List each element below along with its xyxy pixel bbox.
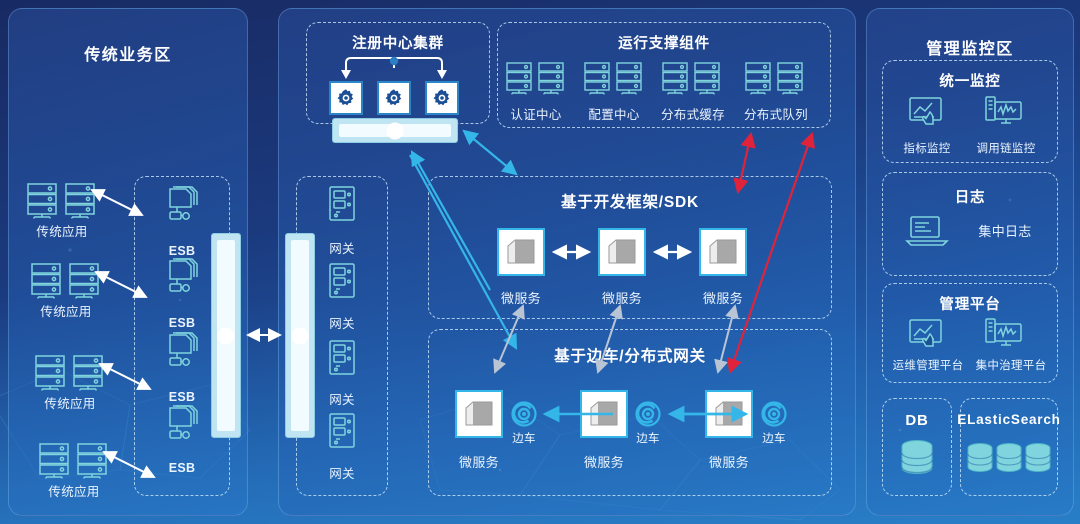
legacy-app-label-3: 传统应用 — [24, 481, 124, 500]
registry-node-2[interactable] — [425, 81, 459, 115]
sidecar-service-label-2: 微服务 — [693, 452, 765, 471]
runtime-item-label-1: 配置中心 — [576, 104, 652, 123]
legacy-app-0 — [26, 183, 98, 219]
sidecar-badge-1[interactable] — [634, 400, 662, 428]
platform-title: 管理平台 — [882, 293, 1058, 314]
runtime-item-icon-1 — [583, 62, 645, 96]
legacy-app-2 — [34, 355, 106, 391]
registry-bus-bar[interactable] — [332, 118, 458, 143]
sdk-title: 基于开发框架/SDK — [428, 190, 832, 212]
esb-icon-2 — [160, 332, 200, 370]
legacy-zone-title: 传统业务区 — [9, 41, 247, 65]
governance-platform-icon-wrap — [985, 318, 1023, 350]
esb-bus-bar[interactable] — [211, 233, 241, 438]
gateway-label-3: 网关 — [302, 463, 382, 482]
ops-platform-icon-wrap — [908, 318, 946, 350]
registry-bus-bar-knob[interactable] — [387, 122, 404, 139]
architecture-diagram: 传统业务区 传统应用 传统应用 — [0, 0, 1080, 524]
legacy-app-label-2: 传统应用 — [20, 393, 120, 412]
laptop-icon — [905, 215, 949, 249]
management-zone-title: 管理监控区 — [867, 35, 1073, 59]
sdk-service-2[interactable] — [699, 228, 747, 276]
esb-bus-bar-knob[interactable] — [218, 327, 235, 344]
gateway-bus-bar-knob[interactable] — [292, 327, 309, 344]
runtime-item-icon-0 — [505, 62, 567, 96]
cube-icon — [600, 230, 644, 274]
laptop-icon-wrap — [905, 215, 949, 249]
cube-icon — [701, 230, 745, 274]
gateway-icon-1 — [326, 263, 358, 299]
sdk-service-label-1: 微服务 — [586, 288, 658, 307]
runtime-support-title: 运行支撑组件 — [497, 32, 831, 53]
runtime-item-label-2: 分布式缓存 — [649, 104, 737, 123]
sidecar-icon — [510, 400, 538, 428]
db-icon-wrap — [896, 438, 938, 482]
sidecar-badge-2[interactable] — [760, 400, 788, 428]
registry-node-1[interactable] — [377, 81, 411, 115]
gateway-icon-0 — [326, 186, 358, 222]
logging-title: 日志 — [882, 186, 1058, 207]
registry-cluster-title: 注册中心集群 — [306, 32, 490, 53]
legacy-app-label-1: 传统应用 — [16, 301, 116, 320]
governance-platform-label: 集中治理平台 — [963, 357, 1059, 373]
gear-icon — [384, 88, 404, 108]
metrics-monitor-label: 指标监控 — [887, 140, 967, 156]
gear-icon — [432, 88, 452, 108]
ops-platform-label: 运维管理平台 — [880, 357, 976, 373]
registry-node-0[interactable] — [329, 81, 363, 115]
elasticsearch-title: ELasticSearch — [956, 412, 1062, 427]
db-title: DB — [882, 412, 952, 429]
runtime-item-icon-3 — [744, 62, 806, 96]
esb-icon-3 — [160, 405, 200, 443]
sidecar-service-label-1: 微服务 — [568, 452, 640, 471]
sidecar-badge-label-1: 边车 — [618, 430, 678, 446]
legacy-app-label-0: 传统应用 — [12, 221, 112, 240]
sidecar-badge-label-0: 边车 — [494, 430, 554, 446]
sidecar-title: 基于边车/分布式网关 — [428, 344, 832, 366]
sdk-service-label-0: 微服务 — [485, 288, 557, 307]
sidecar-service-label-0: 微服务 — [443, 452, 515, 471]
ops-platform-icon — [908, 318, 946, 350]
database-icon — [896, 438, 938, 482]
sidecar-badge-label-2: 边车 — [744, 430, 804, 446]
sidecar-badge-0[interactable] — [510, 400, 538, 428]
trace-monitor-icon — [985, 96, 1023, 128]
esb-icon-0 — [160, 186, 200, 224]
sidecar-icon — [760, 400, 788, 428]
trace-monitor-label: 调用链监控 — [960, 140, 1052, 156]
monitoring-title: 统一监控 — [882, 70, 1058, 91]
runtime-item-label-3: 分布式队列 — [732, 104, 820, 123]
sdk-service-0[interactable] — [497, 228, 545, 276]
governance-platform-icon — [985, 318, 1023, 350]
legacy-app-1 — [30, 263, 102, 299]
gateway-bus-bar[interactable] — [285, 233, 315, 438]
metrics-monitor-icon — [908, 96, 946, 128]
gear-icon — [336, 88, 356, 108]
gateway-icon-3 — [326, 413, 358, 449]
esb-label-3: ESB — [140, 461, 224, 475]
runtime-item-label-0: 认证中心 — [498, 104, 574, 123]
sdk-service-1[interactable] — [598, 228, 646, 276]
elasticsearch-icon-wrap — [965, 441, 1055, 483]
cube-icon — [499, 230, 543, 274]
sidecar-icon — [634, 400, 662, 428]
esb-icon-1 — [160, 258, 200, 296]
runtime-item-icon-2 — [661, 62, 723, 96]
metrics-monitor-icon-wrap — [908, 96, 946, 128]
database-icon — [965, 441, 1055, 483]
logging-item-label: 集中日志 — [960, 221, 1050, 240]
trace-monitor-icon-wrap — [985, 96, 1023, 128]
legacy-app-3 — [38, 443, 110, 479]
gateway-icon-2 — [326, 340, 358, 376]
sdk-service-label-2: 微服务 — [687, 288, 759, 307]
